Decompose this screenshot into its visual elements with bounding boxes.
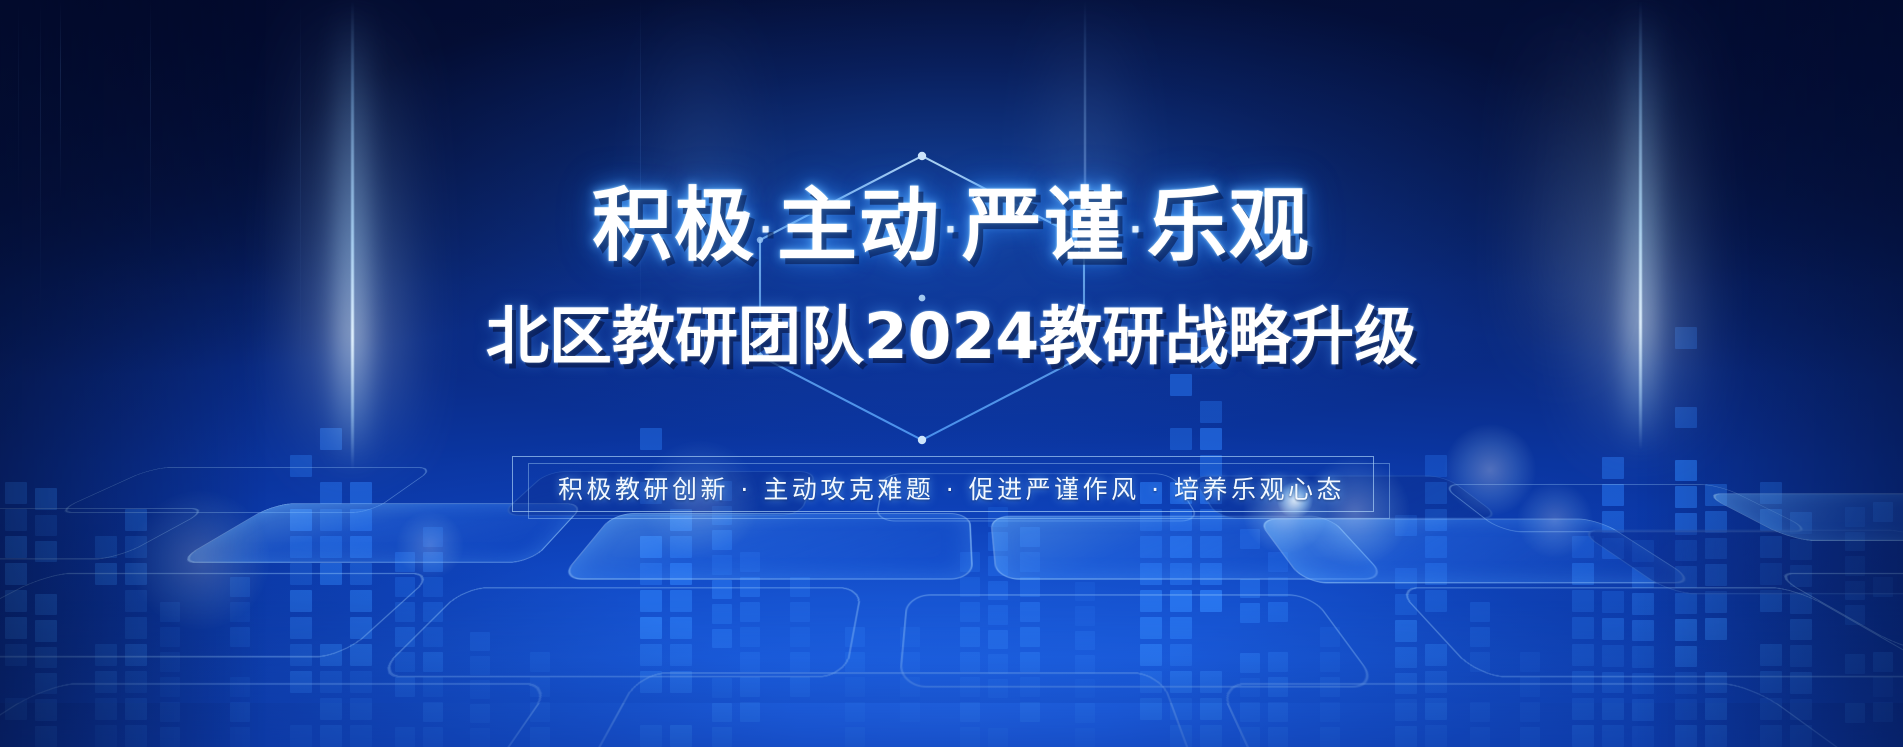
title-separator-dot: · <box>759 213 774 247</box>
tagline-bar: 积极教研创新 · 主动攻克难题 · 促进严谨作风 · 培养乐观心态 <box>512 456 1392 518</box>
tagline-text: 积极教研创新 · 主动攻克难题 · 促进严谨作风 · 培养乐观心态 <box>512 465 1392 515</box>
banner-main-title: 积极·主动·严谨·乐观 <box>0 186 1903 266</box>
title-separator-dot: · <box>1129 213 1144 247</box>
title-word: 主动 <box>777 179 941 272</box>
title-word: 积极 <box>592 179 756 272</box>
title-separator-dot: · <box>944 213 959 247</box>
banner-canvas: 积极·主动·严谨·乐观 北区教研团队2024教研战略升级 积极教研创新 · 主动… <box>0 0 1903 747</box>
title-word: 乐观 <box>1147 179 1311 272</box>
banner-subtitle: 北区教研团队2024教研战略升级 <box>0 305 1903 368</box>
banner-content: 积极·主动·严谨·乐观 北区教研团队2024教研战略升级 积极教研创新 · 主动… <box>0 0 1903 747</box>
title-word: 严谨 <box>962 179 1126 272</box>
